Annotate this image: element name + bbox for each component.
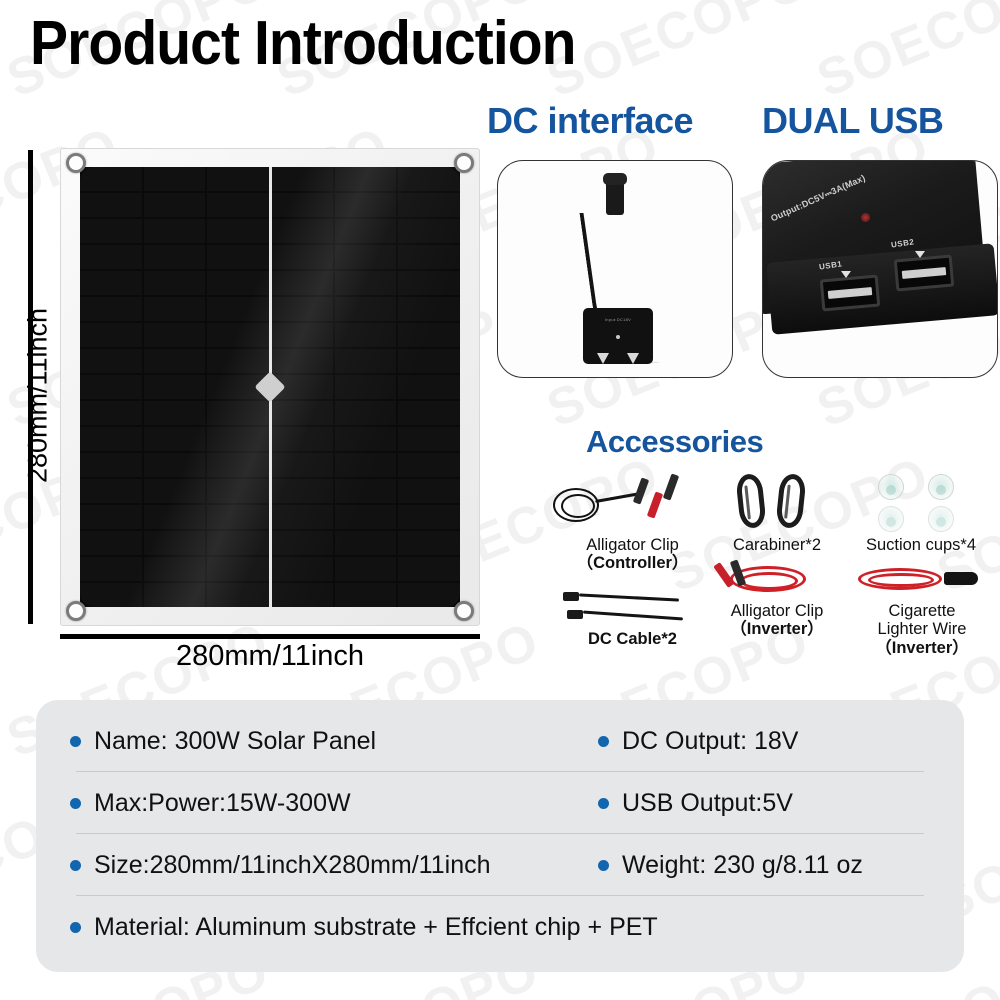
dc-interface-photo: Input:DC18V [497,160,733,378]
panel-cell [207,349,269,373]
panel-cell [207,505,269,529]
grommet-top-left-icon [66,153,86,173]
panel-cell [207,323,269,347]
panel-cell [207,297,269,321]
accessory-label: Carabiner*2 [712,536,842,554]
spec-value-usb-output: USB Output:5V [622,789,793,818]
panel-cell [398,557,460,581]
dimension-line-horizontal [60,634,480,639]
red-wire-coil-inner-icon [740,572,798,590]
accessory-label-line1: Carabiner*2 [712,536,842,554]
spec-value-weight: Weight: 230 g/8.11 oz [622,851,863,880]
spec-row: Material: Aluminum substrate + Effcient … [70,896,930,958]
spec-row: Size:280mm/11inchX280mm/11inch Weight: 2… [70,834,930,896]
panel-cell [271,479,333,503]
accessory-label-line1: Alligator Clip [712,602,842,620]
panel-cell [80,323,142,347]
heading-dc-interface: DC interface [487,100,693,142]
panel-cell [271,271,333,295]
panel-cell [144,557,206,581]
panel-cell [207,479,269,503]
panel-cell [80,453,142,477]
panel-cell [335,349,397,373]
panel-cell [398,271,460,295]
panel-cell [398,531,460,555]
panel-cell [144,323,206,347]
panel-cell [144,531,206,555]
panel-cell [398,401,460,425]
spec-value-dc-output: DC Output: 18V [622,727,798,756]
grommet-top-right-icon [454,153,474,173]
panel-cell [335,245,397,269]
suction-cups-image [846,466,996,536]
panel-cell [207,401,269,425]
panel-cell [271,193,333,217]
spec-cell-dc-output: DC Output: 18V [598,727,930,756]
panel-cell [335,271,397,295]
panel-cell [335,323,397,347]
panel-cell [398,349,460,373]
accessory-label: Alligator Clip （Controller） [545,536,720,573]
dc-cable-image [545,586,720,630]
panel-cell [398,479,460,503]
panel-cell [80,557,142,581]
accessory-label: Cigarette Lighter Wire （Inverter） [848,602,996,657]
panel-cell [335,401,397,425]
grommet-bottom-right-icon [454,601,474,621]
spec-cell-usb-output: USB Output:5V [598,789,930,818]
alligator-clip-red-icon [647,491,663,518]
panel-cell [80,349,142,373]
panel-cell [271,297,333,321]
cigarette-lighter-wire-image [848,560,996,602]
panel-cell [207,245,269,269]
accessory-label-line1: DC Cable*2 [545,630,720,648]
panel-cell [144,583,206,607]
panel-cell [398,453,460,477]
panel-cell [271,167,333,191]
spec-value-material: Material: Aluminum substrate + Effcient … [94,913,658,942]
accessory-label-line1: Suction cups*4 [846,536,996,554]
panel-cell [335,193,397,217]
accessory-cigarette-lighter-wire: Cigarette Lighter Wire （Inverter） [848,560,996,657]
panel-cell [207,427,269,451]
panel-cell [398,323,460,347]
cigarette-plug-icon [944,572,978,585]
panel-cell [335,583,397,607]
panel-cell [271,401,333,425]
panel-height-label: 280mm/11inch [23,266,54,526]
panel-cell [144,505,206,529]
panel-cell [398,427,460,451]
panel-cell [80,297,142,321]
panel-cell [207,531,269,555]
panel-cell [335,531,397,555]
panel-cell [207,557,269,581]
panel-cell [144,427,206,451]
specifications-panel: Name: 300W Solar Panel DC Output: 18V Ma… [36,700,964,972]
panel-cell [398,245,460,269]
panel-cell [80,193,142,217]
dc-connector-box: Input:DC18V [583,308,653,364]
usb-led-indicator-icon [861,213,870,222]
heading-accessories: Accessories [586,424,763,460]
panel-cell [335,479,397,503]
panel-cell [144,375,206,399]
usb-port-2-arrow-icon [915,251,925,258]
accessory-label: Alligator Clip （Inverter） [712,602,842,639]
panel-cell [398,193,460,217]
watermark-text: SOECOPO [0,0,8,110]
panel-cell [144,401,206,425]
panel-cell [80,245,142,269]
panel-cell [144,271,206,295]
accessory-alligator-clip-inverter: Alligator Clip （Inverter） [712,560,842,639]
panel-cell [144,167,206,191]
panel-cell [271,219,333,243]
panel-cell [207,583,269,607]
usb-port-1-arrow-icon [841,271,851,278]
panel-cell [144,193,206,217]
watermark-text: SOECOPO [0,280,8,439]
panel-cell [398,167,460,191]
dual-usb-photo: Output:DC5V⎓3A(Max) USB1 USB2 [762,160,998,378]
suction-cup-2-icon [928,474,954,500]
accessory-label-line2: （Inverter） [712,620,842,638]
panel-cell [335,219,397,243]
panel-cell [271,453,333,477]
panel-cell [80,531,142,555]
panel-cell [335,375,397,399]
accessory-label-line2: Lighter Wire [848,620,996,638]
spec-value-max-power: Max:Power:15W-300W [94,789,351,818]
panel-cell [271,245,333,269]
spec-cell-name: Name: 300W Solar Panel [70,727,598,756]
panel-cell [335,297,397,321]
spec-cell-size: Size:280mm/11inchX280mm/11inch [70,851,598,880]
panel-cell [80,375,142,399]
carabiner-1-icon [735,473,767,529]
panel-cell [80,167,142,191]
accessory-dc-cable: DC Cable*2 [545,586,720,648]
panel-cell [271,505,333,529]
carabiner-2-icon [775,473,807,529]
solar-panel-image [60,148,480,626]
panel-cell [271,583,333,607]
usb-port-2 [894,255,955,292]
accessory-suction-cups: Suction cups*4 [846,466,996,554]
specifications-list: Name: 300W Solar Panel DC Output: 18V Ma… [36,700,964,972]
panel-width-label: 280mm/11inch [60,640,480,673]
bullet-icon [70,736,81,747]
heading-dual-usb: DUAL USB [762,100,943,142]
spec-cell-max-power: Max:Power:15W-300W [70,789,598,818]
panel-cell [207,193,269,217]
panel-cell [80,401,142,425]
spec-value-size: Size:280mm/11inchX280mm/11inch [94,851,491,880]
panel-cell [144,479,206,503]
page-title: Product Introduction [30,8,576,79]
watermark-text: SOECOPO [0,940,8,1000]
bullet-icon [70,922,81,933]
watermark-text: SOECOPO [539,0,818,110]
dc-cable-wire-2 [583,611,683,621]
usb-port-1 [820,275,881,312]
panel-cell [335,557,397,581]
accessory-label-line1: Alligator Clip [545,536,720,554]
panel-cell [398,505,460,529]
spec-row: Max:Power:15W-300W USB Output:5V [70,772,930,834]
dc-cable-head-1-icon [563,592,579,601]
carabiner-image [712,466,842,536]
accessory-alligator-clip-controller: Alligator Clip （Controller） [545,466,720,573]
panel-cell [144,453,206,477]
accessory-label-line1: Cigarette [848,602,996,620]
panel-cell [207,453,269,477]
panel-cell [271,531,333,555]
bullet-icon [70,798,81,809]
dc-cable-wire-1 [579,593,679,601]
panel-cell [335,427,397,451]
bullet-icon [598,736,609,747]
watermark-text: SOECOPO [0,610,8,769]
panel-cell [271,557,333,581]
accessory-label: Suction cups*4 [846,536,996,554]
alligator-clip-black-2-icon [663,473,679,500]
dc-box-label: Input:DC18V [591,317,645,322]
panel-cell [207,167,269,191]
panel-cell [335,505,397,529]
panel-cell [207,271,269,295]
wire-coil-inner-icon [561,494,595,518]
bullet-icon [598,798,609,809]
cig-red-wire-inner-icon [868,573,934,587]
suction-cup-1-icon [878,474,904,500]
dc-plug-icon [606,177,624,215]
spec-cell-weight: Weight: 230 g/8.11 oz [598,851,930,880]
alligator-clip-controller-image [545,466,720,536]
dc-cable-head-2-icon [567,610,583,619]
alligator-clip-inverter-image [712,560,842,602]
panel-cell [80,427,142,451]
panel-cell [398,375,460,399]
dc-pin-left-icon [597,353,609,364]
dc-box-screw-icon [616,335,620,339]
panel-cell [271,427,333,451]
spec-row: Name: 300W Solar Panel DC Output: 18V [70,710,930,772]
suction-cup-4-icon [928,506,954,532]
dc-pin-right-icon [627,353,639,364]
accessory-label: DC Cable*2 [545,630,720,648]
panel-cell [144,245,206,269]
accessory-carabiner: Carabiner*2 [712,466,842,554]
grommet-bottom-left-icon [66,601,86,621]
panel-cell [207,219,269,243]
panel-cell [271,349,333,373]
bullet-icon [598,860,609,871]
panel-cell [398,583,460,607]
panel-cell [80,271,142,295]
panel-cell [398,297,460,321]
panel-cell [398,219,460,243]
accessory-label-line2: （Controller） [545,554,720,572]
panel-cell [271,323,333,347]
bullet-icon [70,860,81,871]
alligator-clip-black-icon [633,477,649,504]
watermark-text: SOECOPO [809,0,1000,110]
panel-cell [335,453,397,477]
panel-cell [80,219,142,243]
panel-cell [144,219,206,243]
panel-cell [80,479,142,503]
accessory-label-line3: （Inverter） [848,639,996,657]
suction-cup-3-icon [878,506,904,532]
panel-cell [80,505,142,529]
spec-cell-material: Material: Aluminum substrate + Effcient … [70,913,930,942]
panel-cell [144,297,206,321]
panel-cell [335,167,397,191]
spec-value-name: Name: 300W Solar Panel [94,727,376,756]
panel-cell [80,583,142,607]
panel-cell [144,349,206,373]
